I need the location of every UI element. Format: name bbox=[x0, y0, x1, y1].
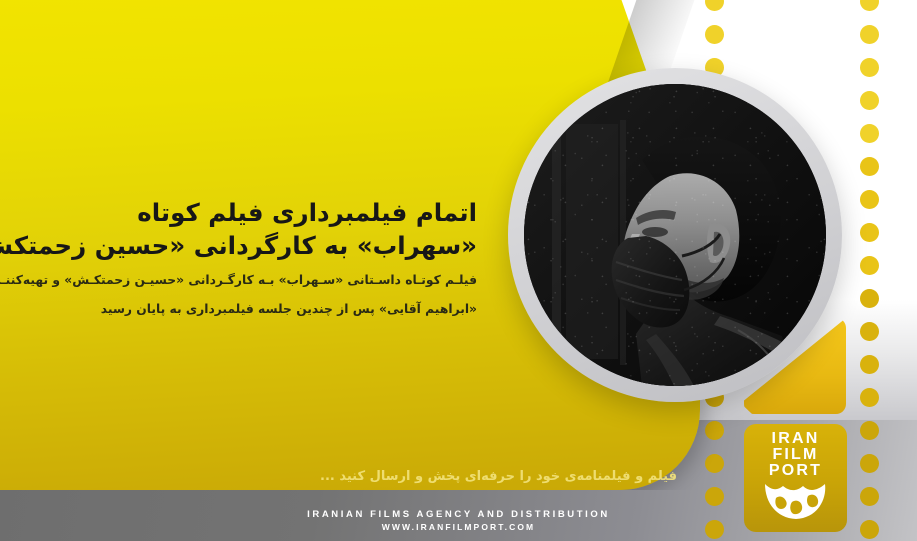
footer: IRANIAN FILMS AGENCY AND DISTRIBUTION WW… bbox=[0, 509, 917, 532]
perforation-dot bbox=[860, 322, 879, 341]
headline-line-1: اتمام فیلمبرداری فیلم کوتاه bbox=[7, 196, 477, 229]
perforation-dot bbox=[860, 355, 879, 374]
headline-line-2: «سهراب» به کارگردانی «حسین زحمتکش» bbox=[7, 229, 477, 262]
perforation-dot bbox=[705, 0, 724, 11]
perforation-dot bbox=[860, 223, 879, 242]
perforation-dot bbox=[860, 256, 879, 275]
perforation-dot bbox=[860, 25, 879, 44]
banner-canvas: اتمام فیلمبرداری فیلم کوتاه «سهراب» به ک… bbox=[0, 0, 917, 541]
perforation-dot bbox=[860, 157, 879, 176]
perforation-dot bbox=[860, 0, 879, 11]
perforation-dot bbox=[860, 421, 879, 440]
perforation-dot bbox=[705, 421, 724, 440]
perforation-dot bbox=[860, 289, 879, 308]
footer-agency-line: IRANIAN FILMS AGENCY AND DISTRIBUTION bbox=[0, 509, 917, 520]
perforation-dot bbox=[860, 124, 879, 143]
logo-line-port: PORT bbox=[769, 463, 822, 479]
perforation-dot bbox=[860, 454, 879, 473]
perforation-dot bbox=[860, 91, 879, 110]
perforation-dot bbox=[860, 388, 879, 407]
perforation-column-right bbox=[860, 0, 879, 539]
perforation-dot bbox=[705, 487, 724, 506]
perforation-dot bbox=[860, 487, 879, 506]
perforation-dot bbox=[860, 190, 879, 209]
logo-line-iran: IRAN bbox=[772, 431, 820, 447]
body-line-2: «ابراهیم آقایی» پس از چندین جلسه فیلمبرد… bbox=[7, 299, 477, 320]
article-text-block: اتمام فیلمبرداری فیلم کوتاه «سهراب» به ک… bbox=[7, 196, 477, 320]
tagline-text: فیلم و فیلمنامه‌ی خود را حرفه‌ای پخش و ا… bbox=[320, 469, 677, 484]
perforation-dot bbox=[860, 58, 879, 77]
perforation-dot bbox=[705, 25, 724, 44]
perforation-dot bbox=[705, 454, 724, 473]
logo-line-film: FILM bbox=[772, 447, 818, 463]
footer-website-line[interactable]: WWW.IRANFILMPORT.COM bbox=[0, 522, 917, 532]
body-line-1: فیلـم کوتـاه داسـتانی «سـهراب» بـه کارگـ… bbox=[7, 270, 477, 291]
portrait-photo bbox=[524, 84, 826, 386]
film-grain-overlay bbox=[524, 84, 826, 386]
